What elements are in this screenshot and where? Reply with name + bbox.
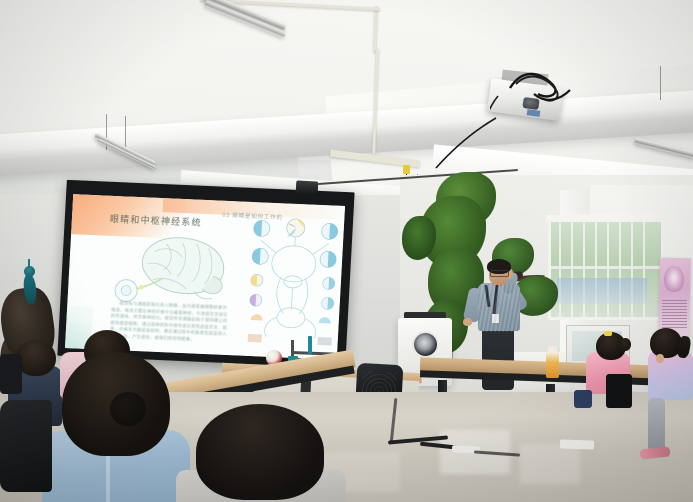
presenter-glasses-icon (490, 270, 509, 277)
cable-connector (403, 165, 410, 174)
student-head (16, 340, 56, 376)
slide-body-text: 视觉有与通路是指光进入眼睛，由光感受器细胞转换为电流，电流主要在神经纤维中沿着视… (110, 300, 232, 344)
peacock-crest (28, 259, 30, 267)
visual-field-diagram (242, 216, 345, 346)
lab-clamp-vertical (308, 336, 312, 354)
light-rod (660, 66, 661, 100)
peacock-head (24, 266, 35, 277)
presenter-shirt-pattern (478, 284, 520, 332)
backpack (574, 390, 592, 408)
student-head-bottom-center (196, 404, 324, 500)
stool-back[interactable] (606, 374, 632, 408)
drink-bottle (546, 352, 559, 378)
hair-clip (604, 331, 612, 336)
bottle-cap (548, 346, 557, 353)
student-hair-bun (110, 392, 146, 426)
student-leg (648, 398, 665, 452)
poster-text-block (662, 300, 687, 330)
appliance-vent-icon (414, 333, 437, 356)
brain-diagram (108, 228, 240, 307)
window-outdoor-sky (557, 278, 647, 304)
presenter-left-hand (463, 318, 472, 326)
window-mullion (551, 266, 661, 269)
student-hand (656, 354, 664, 363)
chair-foreground[interactable] (0, 400, 52, 492)
chair-left-edge[interactable] (0, 354, 22, 394)
screen-camera-device (296, 180, 319, 194)
window (548, 219, 664, 320)
poster-portrait (664, 266, 684, 292)
power-strip[interactable] (560, 439, 594, 449)
hair-bun (620, 338, 631, 351)
classroom-photo: 眼睛和中枢神经系统 03 眼睛是如何工作的 (0, 0, 693, 502)
floor-reflection (520, 444, 580, 484)
